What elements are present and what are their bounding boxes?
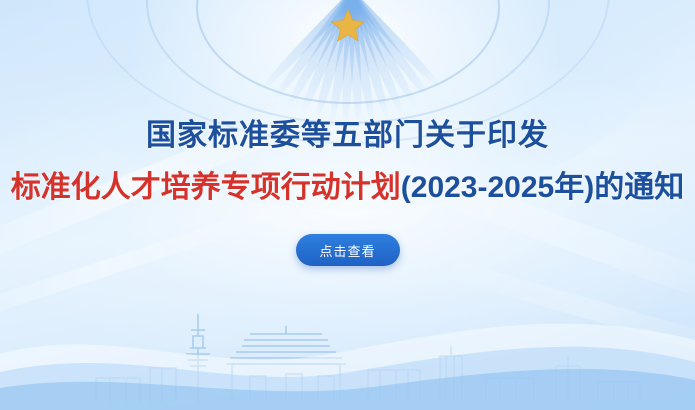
view-details-button[interactable]: 点击查看 <box>296 234 400 266</box>
page-title-suffix: (2023-2025年)的通知 <box>401 171 684 204</box>
announcement-banner: 国家标准委等五部门关于印发 标准化人才培养专项行动计划(2023-2025年)的… <box>0 0 695 410</box>
page-title-highlight: 标准化人才培养专项行动计划 <box>11 171 401 204</box>
banner-content: 国家标准委等五部门关于印发 标准化人才培养专项行动计划(2023-2025年)的… <box>0 0 695 410</box>
page-title-line-1: 国家标准委等五部门关于印发 <box>146 118 549 154</box>
page-title-line-2: 标准化人才培养专项行动计划(2023-2025年)的通知 <box>11 170 684 206</box>
